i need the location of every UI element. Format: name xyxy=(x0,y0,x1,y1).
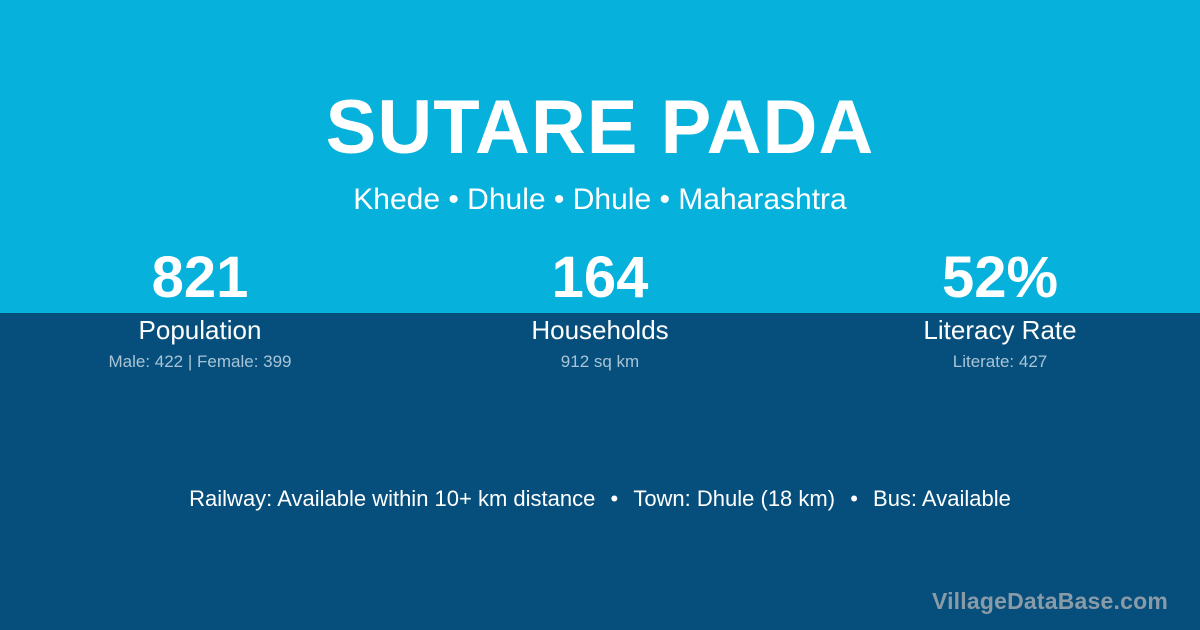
stat-value: 821 xyxy=(0,246,400,310)
site-brand: VillageDataBase.com xyxy=(932,586,1168,616)
stat-value: 52% xyxy=(800,246,1200,310)
stat-label: Households xyxy=(400,314,800,346)
amenity-separator: • xyxy=(841,484,867,514)
stat-sublabel: 912 sq km xyxy=(400,351,800,373)
breadcrumb: Khede • Dhule • Dhule • Maharashtra xyxy=(0,181,1200,219)
village-info-card: SUTARE PADA Khede • Dhule • Dhule • Maha… xyxy=(0,0,1200,630)
stat-sublabel: Literate: 427 xyxy=(800,351,1200,373)
stats-row: 821 Population Male: 422 | Female: 399 1… xyxy=(0,246,1200,386)
amenity-bus: Bus: Available xyxy=(873,484,1011,514)
amenity-separator: • xyxy=(601,484,627,514)
stat-label: Population xyxy=(0,314,400,346)
amenities-line: Railway: Available within 10+ km distanc… xyxy=(0,484,1200,514)
stat-households: 164 Households 912 sq km xyxy=(400,246,800,386)
page-title: SUTARE PADA xyxy=(0,86,1200,170)
stat-sublabel: Male: 422 | Female: 399 xyxy=(0,351,400,373)
stat-literacy-rate: 52% Literacy Rate Literate: 427 xyxy=(800,246,1200,386)
amenity-railway: Railway: Available within 10+ km distanc… xyxy=(189,484,595,514)
amenity-town: Town: Dhule (18 km) xyxy=(633,484,835,514)
stat-value: 164 xyxy=(400,246,800,310)
stat-population: 821 Population Male: 422 | Female: 399 xyxy=(0,246,400,386)
stat-label: Literacy Rate xyxy=(800,314,1200,346)
